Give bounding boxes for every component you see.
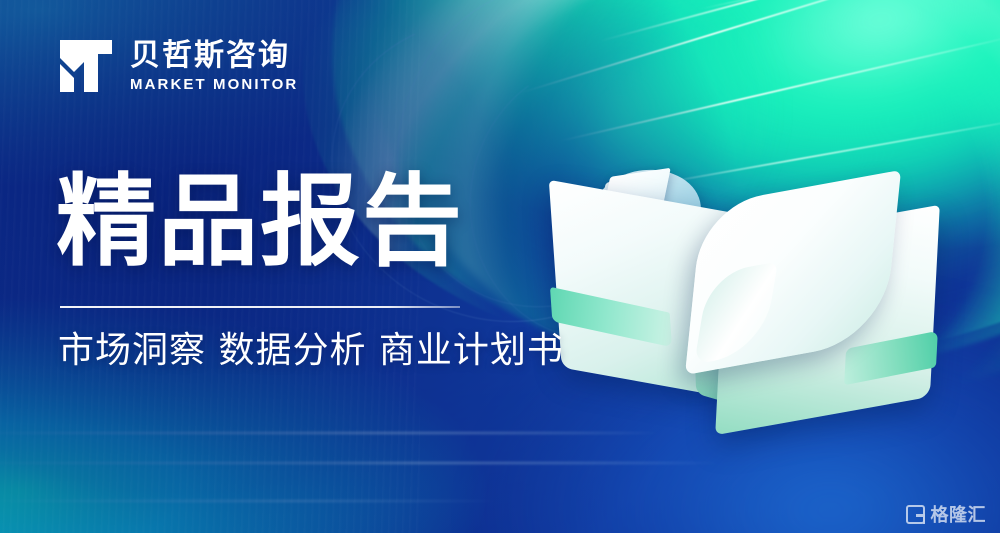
- gelonghui-g-logo-icon: [906, 505, 925, 524]
- brand-logo-text: 贝哲斯咨询 MARKET MONITOR: [130, 39, 298, 94]
- subhead-text: 市场洞察 数据分析 商业计划书: [58, 328, 564, 375]
- market-monitor-m-logo-icon: [58, 38, 114, 94]
- watermark-label: 格隆汇: [931, 501, 987, 527]
- report-banner: 贝哲斯咨询 MARKET MONITOR 精品报告 市场洞察 数据分析 商业计划…: [0, 0, 1000, 533]
- company-name-cn: 贝哲斯咨询: [130, 39, 298, 73]
- headline-title: 精品报告: [56, 168, 464, 276]
- company-name-en: MARKET MONITOR: [130, 76, 298, 93]
- brand-logo: 贝哲斯咨询 MARKET MONITOR: [58, 38, 298, 94]
- divider-line: [60, 306, 460, 308]
- open-book-illustration: [545, 150, 945, 440]
- gelonghui-watermark: 格隆汇: [906, 501, 987, 527]
